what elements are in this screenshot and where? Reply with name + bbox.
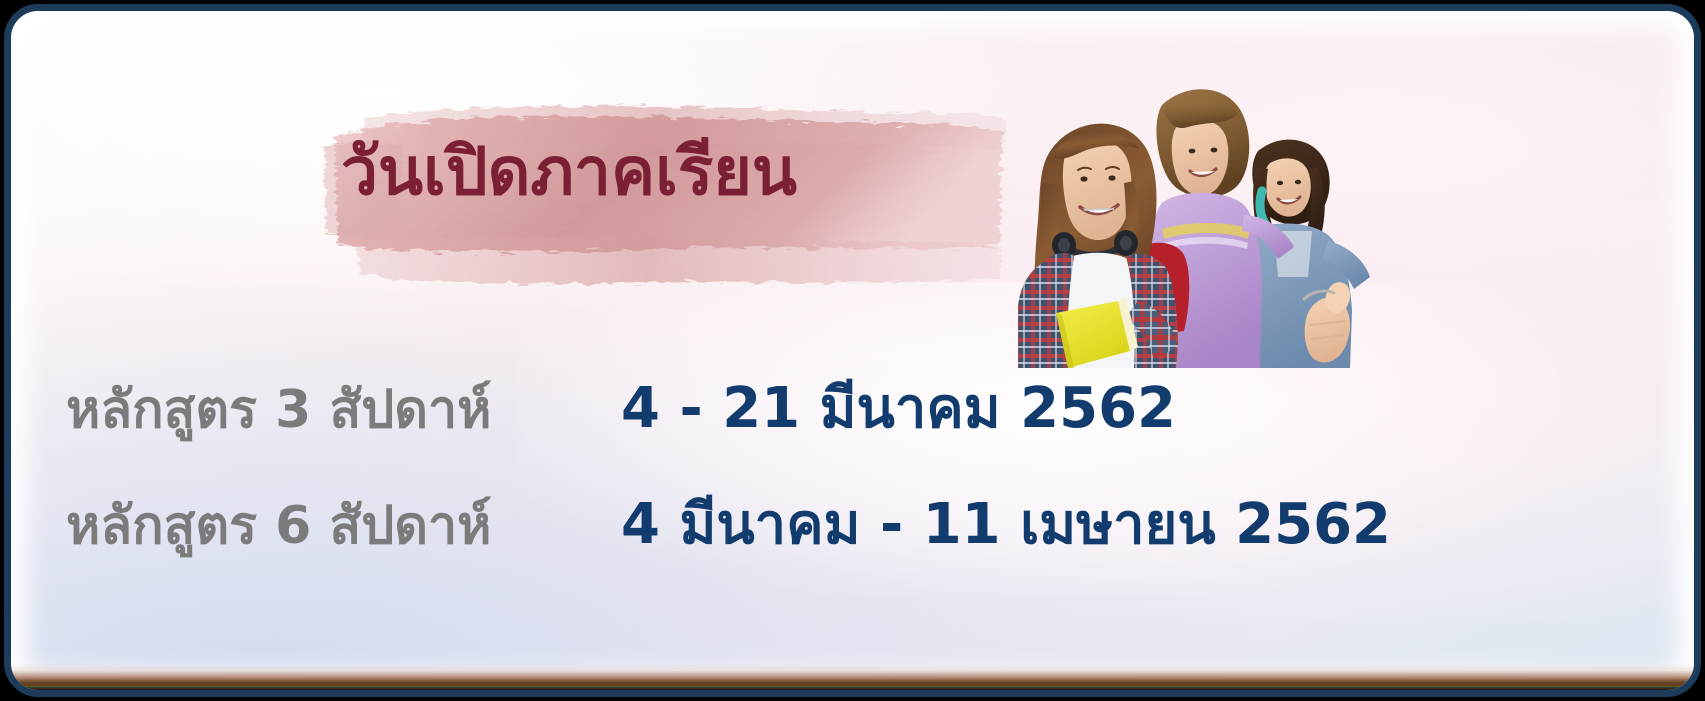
date-value-6-week: 4 มีนาคม - 11 เมษายน 2562 <box>621 489 1391 561</box>
bottom-strip-accent-line <box>11 685 1694 688</box>
info-rows: หลักสูตร 3 สัปดาห์ 4 - 21 มีนาคม 2562 หล… <box>11 11 1694 690</box>
banner-frame: วันเปิดภาคเรียน <box>0 0 1705 701</box>
course-label-3-week: หลักสูตร 3 สัปดาห์ <box>11 377 621 444</box>
banner-border: วันเปิดภาคเรียน <box>4 4 1701 697</box>
info-row-3-week: หลักสูตร 3 สัปดาห์ 4 - 21 มีนาคม 2562 <box>11 373 1694 445</box>
info-row-6-week: หลักสูตร 6 สัปดาห์ 4 มีนาคม - 11 เมษายน … <box>11 489 1694 561</box>
course-label-6-week: หลักสูตร 6 สัปดาห์ <box>11 493 621 560</box>
date-value-3-week: 4 - 21 มีนาคม 2562 <box>621 373 1176 445</box>
